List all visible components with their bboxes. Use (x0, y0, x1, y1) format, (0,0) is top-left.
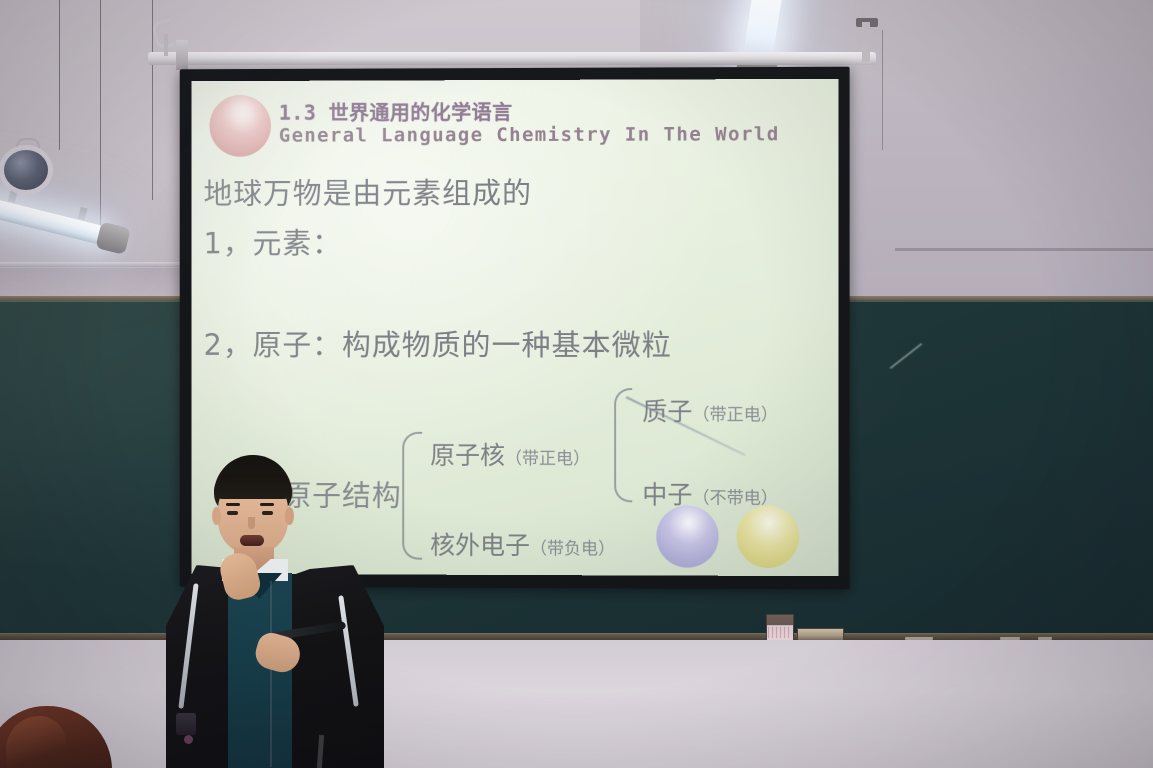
atom-sphere-yellow-icon (737, 506, 799, 568)
lamp-bracket (8, 189, 18, 202)
presenter (160, 455, 390, 768)
slide-line-item-2: 2，原子：构成物质的一种基本微粒 (204, 322, 672, 364)
presenter-ear-left (212, 507, 221, 525)
slide-line-item-1: 1，元素： (204, 220, 342, 262)
presenter-brow-left (226, 503, 240, 506)
diagram-nucleus-label: 原子核 (430, 441, 505, 470)
lamp-bracket (78, 207, 88, 220)
presenter-badge (176, 713, 196, 735)
presenter-ear-right (285, 507, 294, 525)
hanging-wire-3 (59, 0, 60, 150)
diagram-proton-label: 质子 (642, 397, 692, 426)
chalk-box-label (768, 627, 790, 638)
presenter-brow-right (260, 503, 274, 506)
diagram-brace-inner (614, 388, 632, 502)
classroom-photo: 1.3 世界通用的化学语言 General Language Chemistry… (0, 0, 1153, 768)
atom-sphere-purple-icon (656, 505, 718, 567)
diagram-electron-note: （带负电） (530, 539, 615, 559)
presenter-eye-left (227, 511, 238, 515)
ceiling-dome-speaker-icon (4, 150, 48, 190)
diagram-electron-label: 核外电子 (430, 531, 530, 560)
slide-line-intro: 地球万物是由元素组成的 (204, 170, 533, 213)
slide-subtitle: General Language Chemistry In The World (279, 123, 780, 146)
presenter-eye-right (262, 511, 273, 515)
hanging-wire-2 (100, 0, 101, 226)
diagram-nucleus-note: （带正电） (505, 449, 590, 469)
diagram-node-proton: 质子（带正电） (642, 392, 778, 428)
presenter-mouth (240, 535, 264, 546)
projector-screen-roller (148, 52, 876, 65)
presenter-jacket-zipper (270, 581, 272, 767)
diagram-node-nucleus: 原子核（带正电） (430, 436, 590, 472)
roller-hook-icon (152, 20, 178, 54)
wall-seam-right (895, 248, 1153, 251)
diagram-brace-outer (402, 432, 422, 560)
slide-title: 1.3 世界通用的化学语言 (279, 96, 513, 126)
slide-bullet-sphere-icon (209, 95, 270, 157)
diagram-proton-note: （带正电） (692, 405, 778, 425)
presenter-nose (248, 517, 255, 529)
diagram-node-electron: 核外电子（带负电） (430, 526, 615, 563)
presenter-hair-front (214, 473, 292, 499)
roller-cord (882, 30, 883, 150)
lamp-end-cap (95, 221, 131, 254)
presenter-badge-dot (184, 735, 193, 744)
roller-wall-post (862, 22, 870, 62)
